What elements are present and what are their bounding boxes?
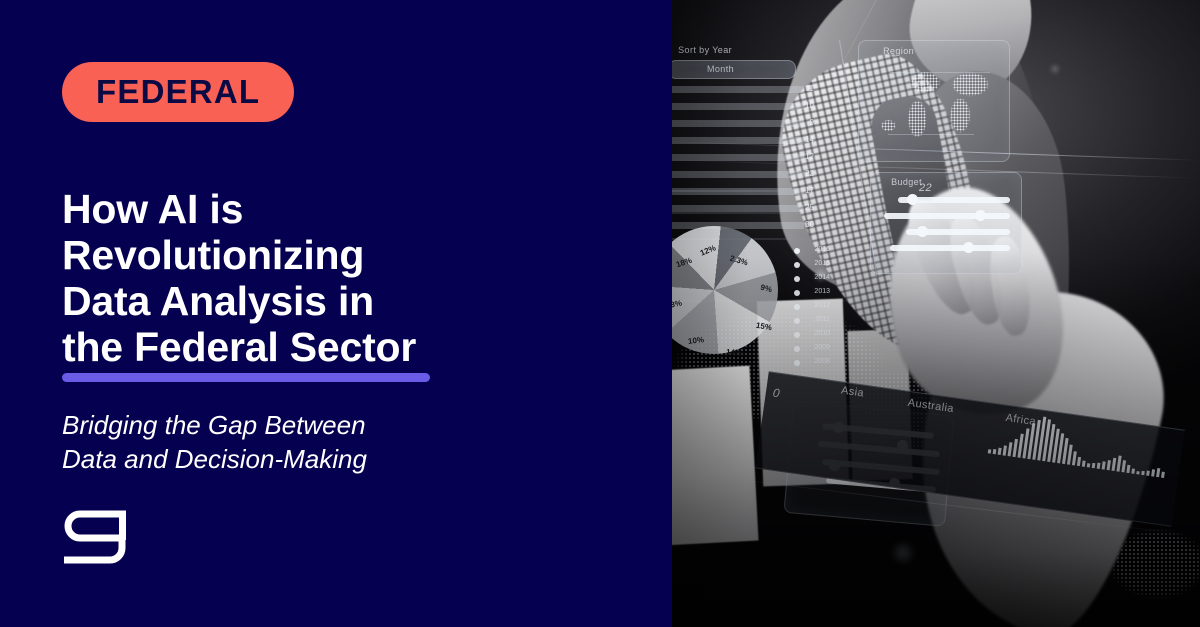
hero-image: Region Budget Sort by Year Month 11 10 — [620, 0, 1200, 627]
region-map-label: Region — [883, 46, 914, 56]
holographic-dashboard: Region Budget Sort by Year Month 11 10 — [620, 0, 1200, 627]
pie-slice-label: 10% — [688, 335, 705, 346]
pie-legend-dot — [794, 262, 800, 268]
pie-legend-dot — [794, 346, 800, 352]
pie-slice-label: 14% — [726, 347, 743, 357]
sort-list-header-text: Month — [707, 64, 734, 74]
pie-legend-label: 2008 — [814, 358, 830, 365]
sort-list-row — [670, 171, 804, 178]
pie-legend-dot — [794, 276, 800, 282]
subtitle-line-2: Data and Decision-Making — [62, 442, 492, 476]
pie-legend-dot — [794, 332, 800, 338]
accent-divider — [62, 373, 430, 382]
pie-legend-dot — [794, 304, 800, 310]
map-leader-line — [890, 72, 990, 73]
social-share-card: Region Budget Sort by Year Month 11 10 — [0, 0, 1200, 627]
sort-list-row — [670, 86, 804, 93]
pie-legend-dot — [794, 318, 800, 324]
region-world-map — [872, 62, 998, 148]
pie-legend-label: 2009 — [814, 344, 830, 351]
headline-line-2: Revolutionizing — [62, 233, 592, 279]
sort-list-value: 14 — [805, 135, 814, 144]
s-monogram-logo[interactable] — [60, 506, 132, 568]
lens-glow — [1050, 64, 1060, 74]
headline-line-3: Data Analysis in — [62, 279, 592, 325]
sort-list-value: 25 — [805, 203, 814, 212]
map-leader-line — [888, 134, 974, 135]
pie-legend-label: 2015 — [814, 260, 830, 267]
pie-legend-label: 2011 — [815, 316, 830, 323]
sort-list-value: 17 — [805, 186, 814, 195]
budget-slider-card — [870, 172, 1022, 274]
category-badge-label: FEDERAL — [96, 73, 260, 111]
pie-legend-dot — [794, 248, 800, 254]
sort-list-value: 12 — [805, 152, 814, 161]
sort-list-value: 11 — [806, 84, 814, 93]
pie-legend-label: 2012 — [814, 302, 830, 309]
category-badge[interactable]: FEDERAL — [62, 62, 294, 122]
headline-line-4: the Federal Sector — [62, 325, 592, 371]
budget-slider-knob — [963, 242, 974, 253]
pie-legend-label: 2016 — [814, 246, 830, 253]
pie-legend-dot — [794, 360, 800, 366]
budget-slider-row — [884, 213, 1010, 219]
page-subtitle: Bridging the Gap Between Data and Decisi… — [62, 408, 492, 477]
budget-slider-knob — [917, 226, 928, 237]
sort-list-label: Sort by Year — [678, 45, 732, 55]
sort-list-row — [670, 205, 804, 212]
sort-list-value: 30 — [805, 220, 814, 229]
subtitle-line-1: Bridging the Gap Between — [62, 408, 492, 442]
budget-slider-row — [890, 245, 1010, 251]
sort-list-value: 22 — [805, 169, 814, 178]
budget-slider-label: Budget — [891, 177, 922, 187]
page-title: How AI is Revolutionizing Data Analysis … — [62, 187, 592, 371]
sort-list-row — [670, 120, 804, 127]
headline-line-1: How AI is — [62, 187, 592, 233]
sort-list-value: 10 — [805, 101, 814, 110]
pie-legend-dot — [794, 290, 800, 296]
lens-glow — [814, 268, 828, 282]
budget-slider-knob — [907, 194, 918, 205]
hud-misc-label: 22 — [919, 182, 932, 194]
pie-legend-label: 2013 — [814, 288, 830, 295]
pie-legend-label: 2010 — [814, 330, 830, 337]
sort-list-row — [670, 188, 804, 195]
sort-list-row — [670, 222, 804, 229]
lens-glow — [890, 540, 916, 566]
sort-list-row — [670, 103, 804, 110]
budget-slider-knob — [975, 210, 986, 221]
